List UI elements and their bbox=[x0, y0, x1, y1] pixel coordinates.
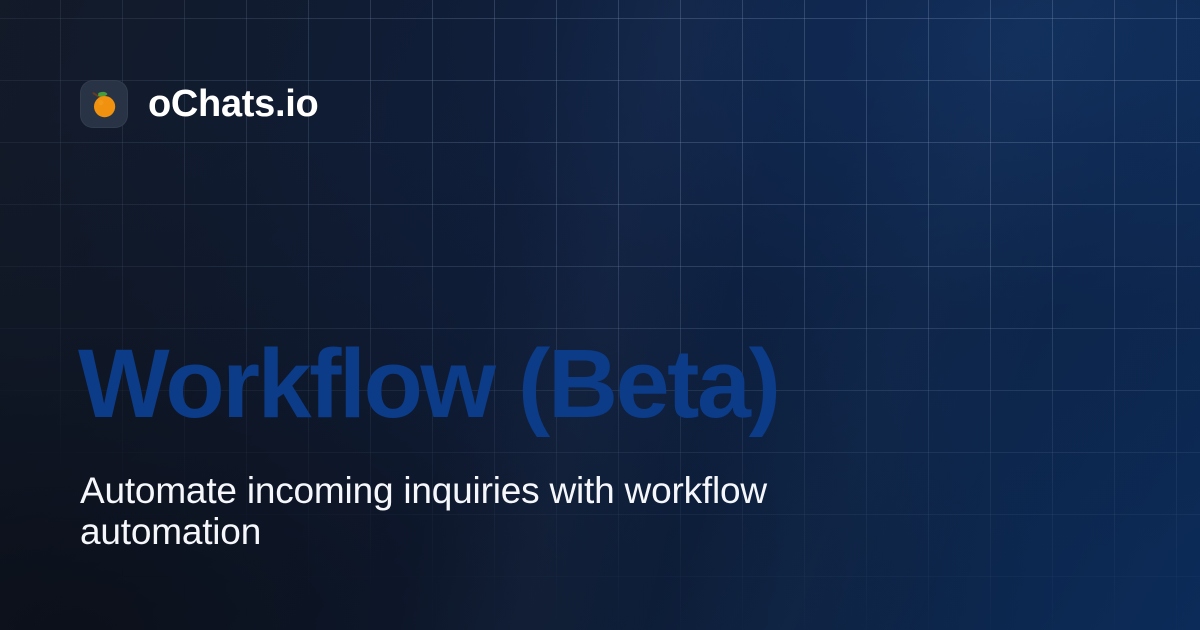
brand-name: oChats.io bbox=[148, 85, 318, 123]
brand-lockup: oChats.io bbox=[80, 80, 318, 128]
card-content: oChats.io Workflow (Beta) Automate incom… bbox=[0, 0, 1200, 630]
page-subtitle: Automate incoming inquiries with workflo… bbox=[80, 470, 870, 552]
page-title: Workflow (Beta) bbox=[78, 334, 779, 434]
og-share-card: oChats.io Workflow (Beta) Automate incom… bbox=[0, 0, 1200, 630]
orange-fruit-icon bbox=[87, 87, 121, 121]
app-logo-tile bbox=[80, 80, 128, 128]
